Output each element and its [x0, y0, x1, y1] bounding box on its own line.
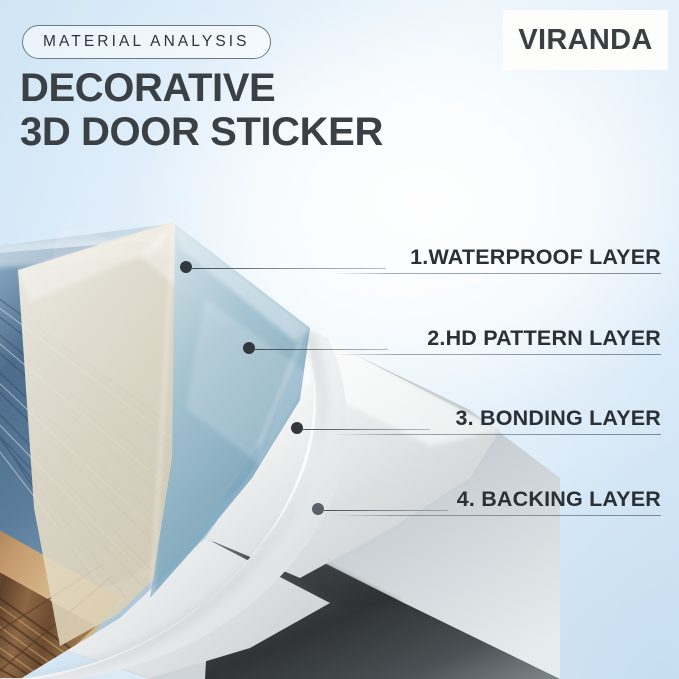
- brand-logo-box: VIRANDA: [503, 10, 668, 70]
- callout-underline-3: [333, 434, 661, 435]
- callout-dot-2: [243, 342, 255, 354]
- brand-name: VIRANDA: [518, 24, 652, 57]
- callout-underline-2: [333, 354, 661, 355]
- title-line-2: 3D DOOR STICKER: [20, 110, 383, 154]
- callout-leader-line-2: [255, 349, 388, 350]
- callout-label-2: 2.HD PATTERN LAYER: [427, 326, 661, 351]
- callout-leader-line-4: [324, 510, 448, 511]
- page-title: DECORATIVE 3D DOOR STICKER: [20, 66, 383, 154]
- callout-label-3: 3. BONDING LAYER: [456, 406, 662, 431]
- callout-label-1: 1.WATERPROOF LAYER: [410, 245, 661, 270]
- callout-underline-1: [333, 273, 661, 274]
- badge-label: MATERIAL ANALYSIS: [43, 33, 250, 51]
- material-analysis-badge: MATERIAL ANALYSIS: [22, 25, 271, 59]
- callout-dot-4: [312, 503, 324, 515]
- callout-dot-3: [291, 422, 303, 434]
- callout-leader-line-1: [192, 268, 386, 269]
- poster-canvas: MATERIAL ANALYSIS DECORATIVE 3D DOOR STI…: [0, 0, 679, 679]
- callout-dot-1: [180, 261, 192, 273]
- callout-underline-4: [333, 515, 661, 516]
- title-line-1: DECORATIVE: [20, 66, 275, 110]
- callout-leader-line-3: [303, 429, 430, 430]
- callout-label-4: 4. BACKING LAYER: [457, 487, 661, 512]
